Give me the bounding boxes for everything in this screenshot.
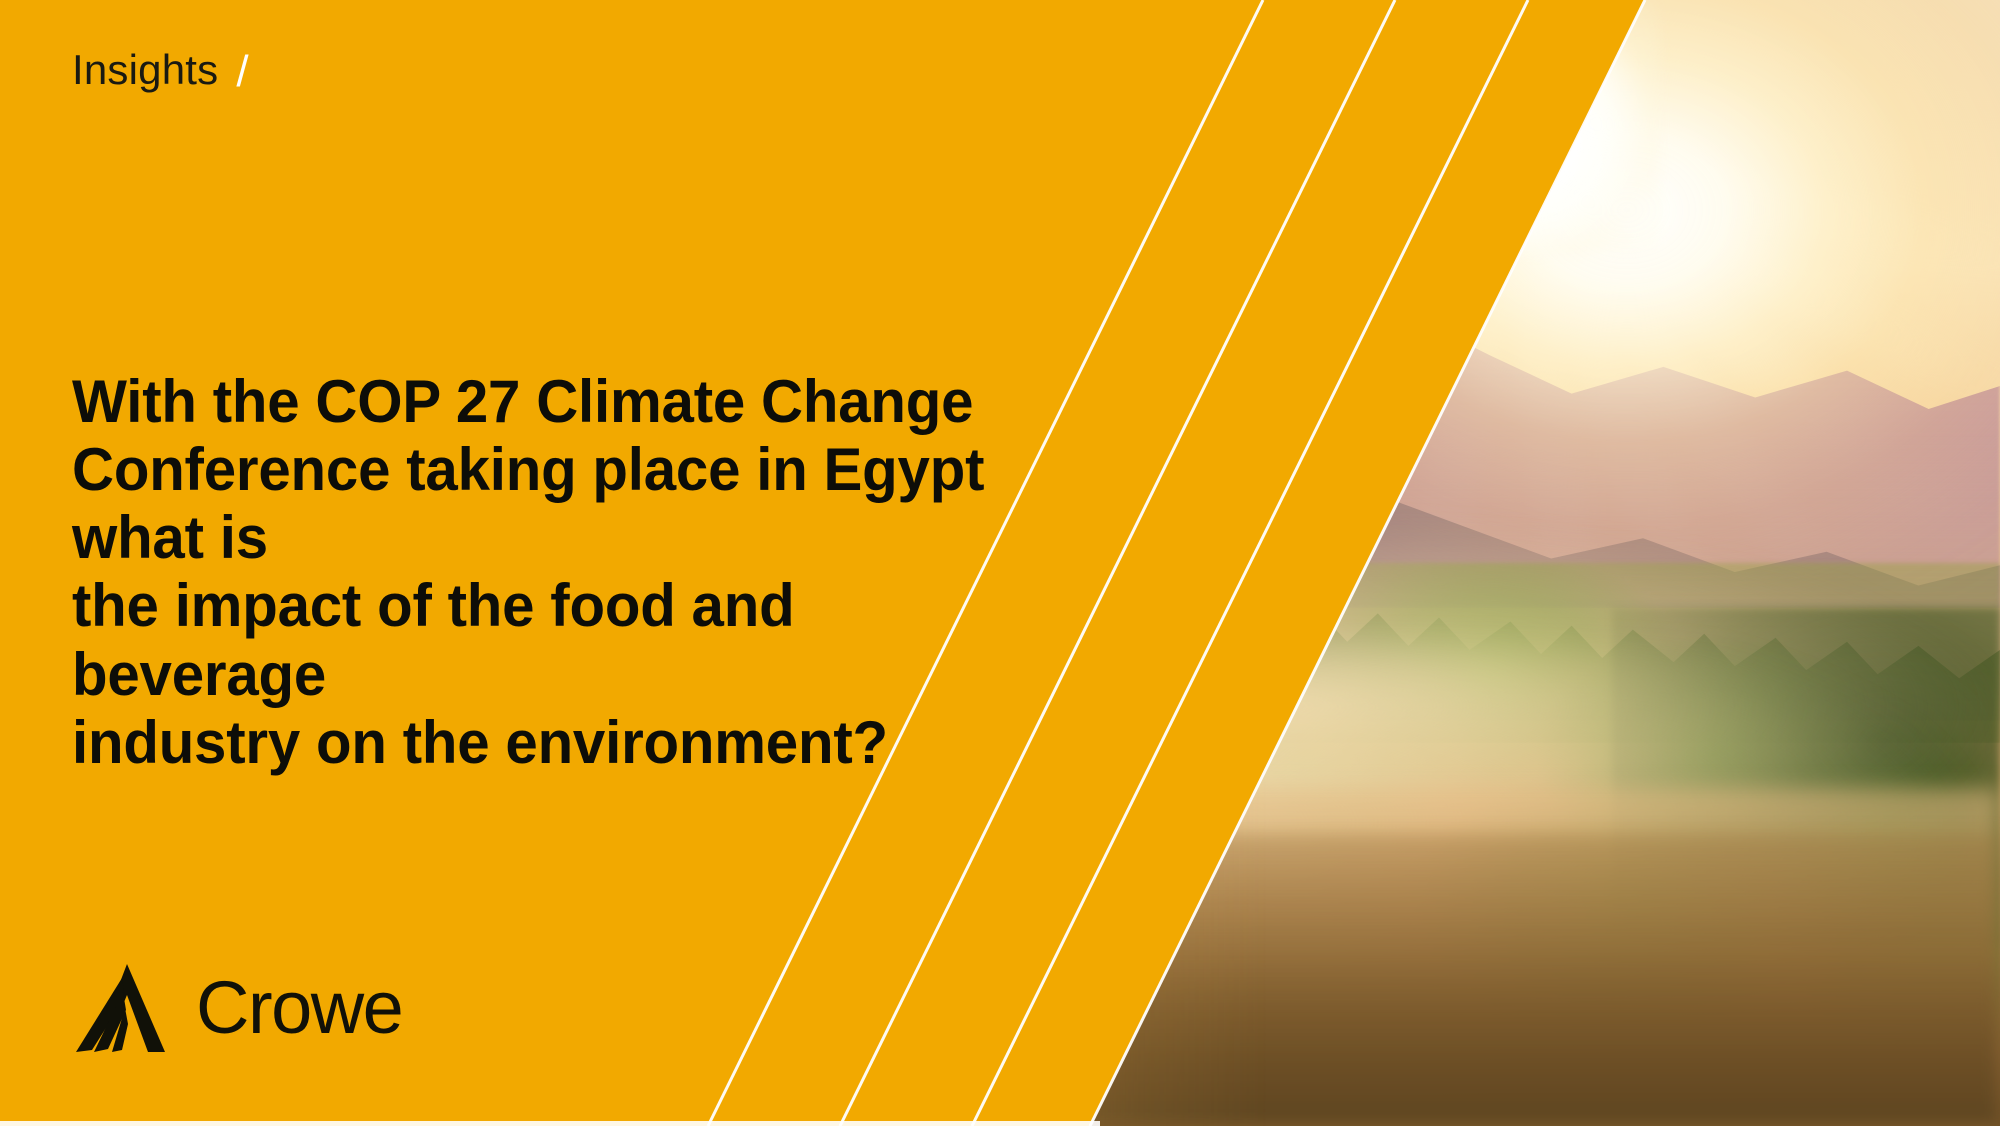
crowe-wordmark: Crowe xyxy=(196,971,402,1045)
headline-line: Conference taking place in Egypt what is xyxy=(72,436,984,571)
sun-glow xyxy=(1127,0,2000,600)
headline-line: With the COP 27 Climate Change xyxy=(72,368,973,435)
hero-photo-scene xyxy=(980,0,2000,1126)
crowe-logo: Crowe xyxy=(70,962,402,1054)
breadcrumb: Insights / xyxy=(72,48,249,92)
page-title: With the COP 27 Climate Change Conferenc… xyxy=(72,368,1032,777)
sun-icon xyxy=(1360,0,1660,254)
crowe-peak-icon xyxy=(70,962,170,1054)
bottom-divider xyxy=(0,1121,1100,1126)
eyebrow-separator: / xyxy=(236,50,248,94)
insights-title-slide: Insights / With the COP 27 Climate Chang… xyxy=(0,0,2000,1126)
headline-line: industry on the environment? xyxy=(72,709,888,776)
headline-line: the impact of the food and beverage xyxy=(72,572,794,707)
eyebrow-label: Insights xyxy=(72,49,218,91)
